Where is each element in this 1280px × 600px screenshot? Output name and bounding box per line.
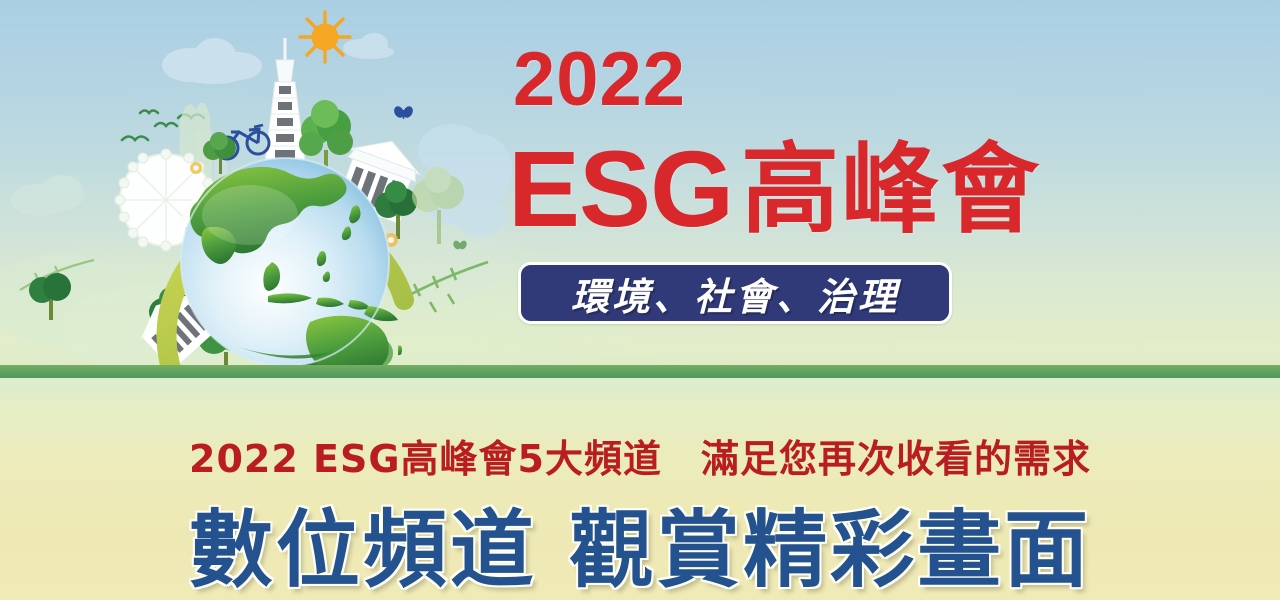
cloud-icon: [10, 175, 84, 216]
theme-pill-label: 環境、社會、治理: [571, 266, 899, 321]
butterfly-icon: [392, 105, 415, 120]
event-title-latin: ESG: [508, 135, 733, 243]
event-title-cjk: 高峰會: [741, 141, 1041, 239]
green-divider-bar: [0, 365, 1280, 378]
theme-pill: 環境、社會、治理: [518, 262, 952, 324]
event-title: ESG 高峰會: [508, 135, 1041, 243]
sun-icon: [300, 12, 350, 62]
headline-navy: 數位頻道 觀賞精彩畫面: [0, 483, 1280, 600]
eco-illustration: [0, 0, 520, 410]
cloud-icon: [162, 38, 262, 84]
subtitle-red: 2022 ESG高峰會5大頻道 滿足您再次收看的需求: [0, 428, 1280, 483]
banner-stage: 2022 ESG 高峰會 環境、社會、治理 2022 ESG高峰會5大頻道 滿足…: [0, 0, 1280, 600]
flower-icon: [190, 162, 202, 174]
year-label: 2022: [513, 42, 686, 118]
